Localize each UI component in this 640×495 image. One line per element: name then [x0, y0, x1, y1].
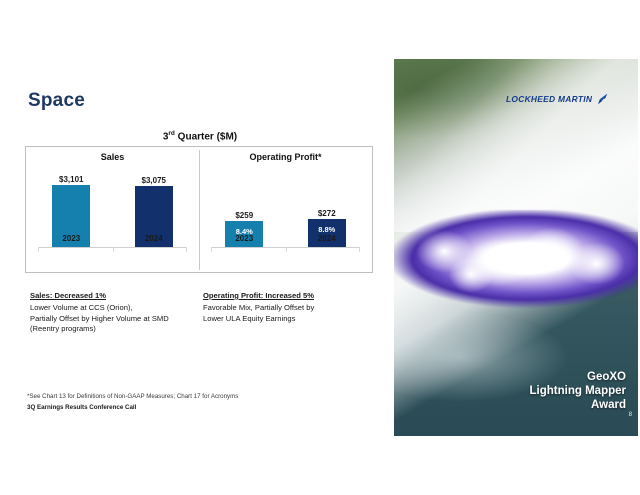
lockheed-martin-wordmark: LOCKHEED MARTIN [506, 94, 592, 104]
sales-axis-tick [186, 247, 187, 252]
operating-profit-commentary: Operating Profit: Increased 5% Favorable… [203, 291, 373, 324]
photo-caption-line: Lightning Mapper [530, 384, 626, 398]
sales-bar-chart: $3,101 2023 $3,075 2024 [30, 166, 195, 270]
sales-commentary-line: (Reentry programs) [30, 324, 198, 335]
lockheed-martin-star-icon [594, 93, 608, 105]
chart-header: 3rd Quarter ($M) [25, 130, 375, 142]
satellite-photo: LOCKHEED MARTIN GeoXO Lightning Mapper A… [394, 59, 638, 436]
op-xtick-2023: 2023 [235, 234, 253, 243]
photo-caption-line: GeoXO [530, 370, 626, 384]
photo-caption-line: Award [530, 398, 626, 412]
op-bar-group-2024: $272 8.8% 2024 [286, 167, 369, 247]
photo-caption: GeoXO Lightning Mapper Award [530, 370, 626, 412]
chart-header-suffix: Quarter ($M) [175, 131, 237, 142]
op-bar-value-2024: $272 [318, 209, 336, 218]
slide: Space 3rd Quarter ($M) Sales $3,101 2023… [0, 0, 640, 495]
sales-bar-group-2023: $3,101 2023 [30, 167, 113, 247]
op-bar-group-2023: $259 8.4% 2023 [203, 167, 286, 247]
sales-chart-title: Sales [30, 152, 195, 162]
op-axis-tick [359, 247, 360, 252]
op-xtick-2024: 2024 [318, 234, 336, 243]
op-commentary-line: Favorable Mix, Partially Offset by [203, 303, 373, 314]
op-axis-tick [211, 247, 212, 252]
panel-divider [199, 150, 200, 270]
sales-xtick-2023: 2023 [62, 234, 80, 243]
op-commentary-line: Lower ULA Equity Earnings [203, 314, 373, 325]
sales-axis-tick [38, 247, 39, 252]
sales-commentary-heading: Sales: Decreased 1% [30, 291, 198, 302]
non-gaap-footnote: *See Chart 13 for Definitions of Non-GAA… [27, 393, 238, 400]
lightning-band-core [404, 221, 628, 296]
lockheed-martin-logo: LOCKHEED MARTIN [506, 93, 608, 105]
op-commentary-heading: Operating Profit: Increased 5% [203, 291, 373, 302]
page-title: Space [28, 90, 85, 112]
sales-bar-value-2024: $3,075 [142, 176, 166, 185]
op-bar-margin-2024: 8.8% [308, 225, 346, 234]
sales-bar-group-2024: $3,075 2024 [113, 167, 196, 247]
sales-commentary-line: Lower Volume at CCS (Orion), [30, 303, 198, 314]
sales-bar-value-2023: $3,101 [59, 175, 83, 184]
op-axis-tick [286, 247, 287, 252]
sales-xtick-2024: 2024 [145, 234, 163, 243]
op-bar-value-2023: $259 [235, 211, 253, 220]
operating-profit-chart-title: Operating Profit* [203, 152, 368, 162]
sales-axis-tick [113, 247, 114, 252]
sales-commentary: Sales: Decreased 1% Lower Volume at CCS … [30, 291, 198, 335]
operating-profit-bar-chart: $259 8.4% 2023 $272 8.8% 2024 [203, 166, 368, 270]
page-number: 8 [629, 412, 632, 418]
sales-commentary-line: Partially Offset by Higher Volume at SMD [30, 314, 198, 325]
deck-footer: 3Q Earnings Results Conference Call [27, 404, 136, 411]
